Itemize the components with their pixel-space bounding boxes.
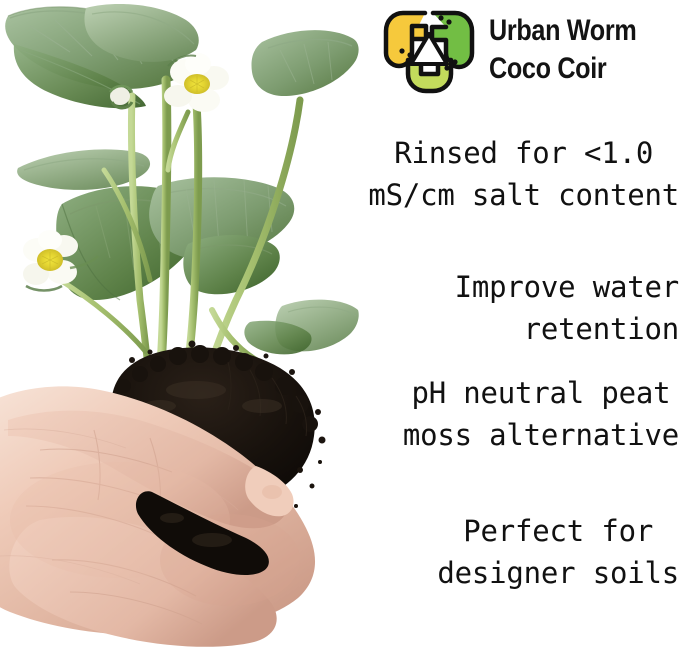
feature-designer-soils-line-1: Perfect for [437, 510, 679, 552]
feature-designer-soils-line-2: designer soils [437, 552, 679, 594]
feature-salt-content-line-1: Rinsed for <1.0 [368, 132, 679, 174]
feature-salt-content-line-2: mS/cm salt content [368, 174, 679, 216]
feature-list: Rinsed for <1.0 mS/cm salt content Impro… [322, 120, 679, 640]
feature-ph-neutral-line-2: moss alternative [403, 414, 679, 456]
feature-water-retention: Improve water retention [455, 266, 679, 350]
strawberry-bud [110, 86, 132, 108]
urban-worm-logo-icon [381, 4, 477, 96]
feature-water-retention-line-2: retention [455, 308, 679, 350]
feature-ph-neutral: pH neutral peat moss alternative [403, 372, 679, 456]
feature-ph-neutral-line-1: pH neutral peat [403, 372, 679, 414]
brand-wordmark: Urban Worm Coco Coir [489, 16, 664, 84]
feature-designer-soils: Perfect for designer soils [437, 510, 679, 594]
product-photo [0, 0, 360, 653]
brand-name-line-1: Urban Worm [489, 16, 636, 46]
brand-name-line-2: Coco Coir [489, 54, 636, 84]
product-infographic: Urban Worm Coco Coir Rinsed for <1.0 mS/… [0, 0, 679, 653]
feature-water-retention-line-1: Improve water [455, 266, 679, 308]
feature-salt-content: Rinsed for <1.0 mS/cm salt content [368, 132, 679, 216]
hand-holding-strawberry-plant-illustration [0, 0, 360, 653]
brand-header: Urban Worm Coco Coir [381, 2, 679, 98]
